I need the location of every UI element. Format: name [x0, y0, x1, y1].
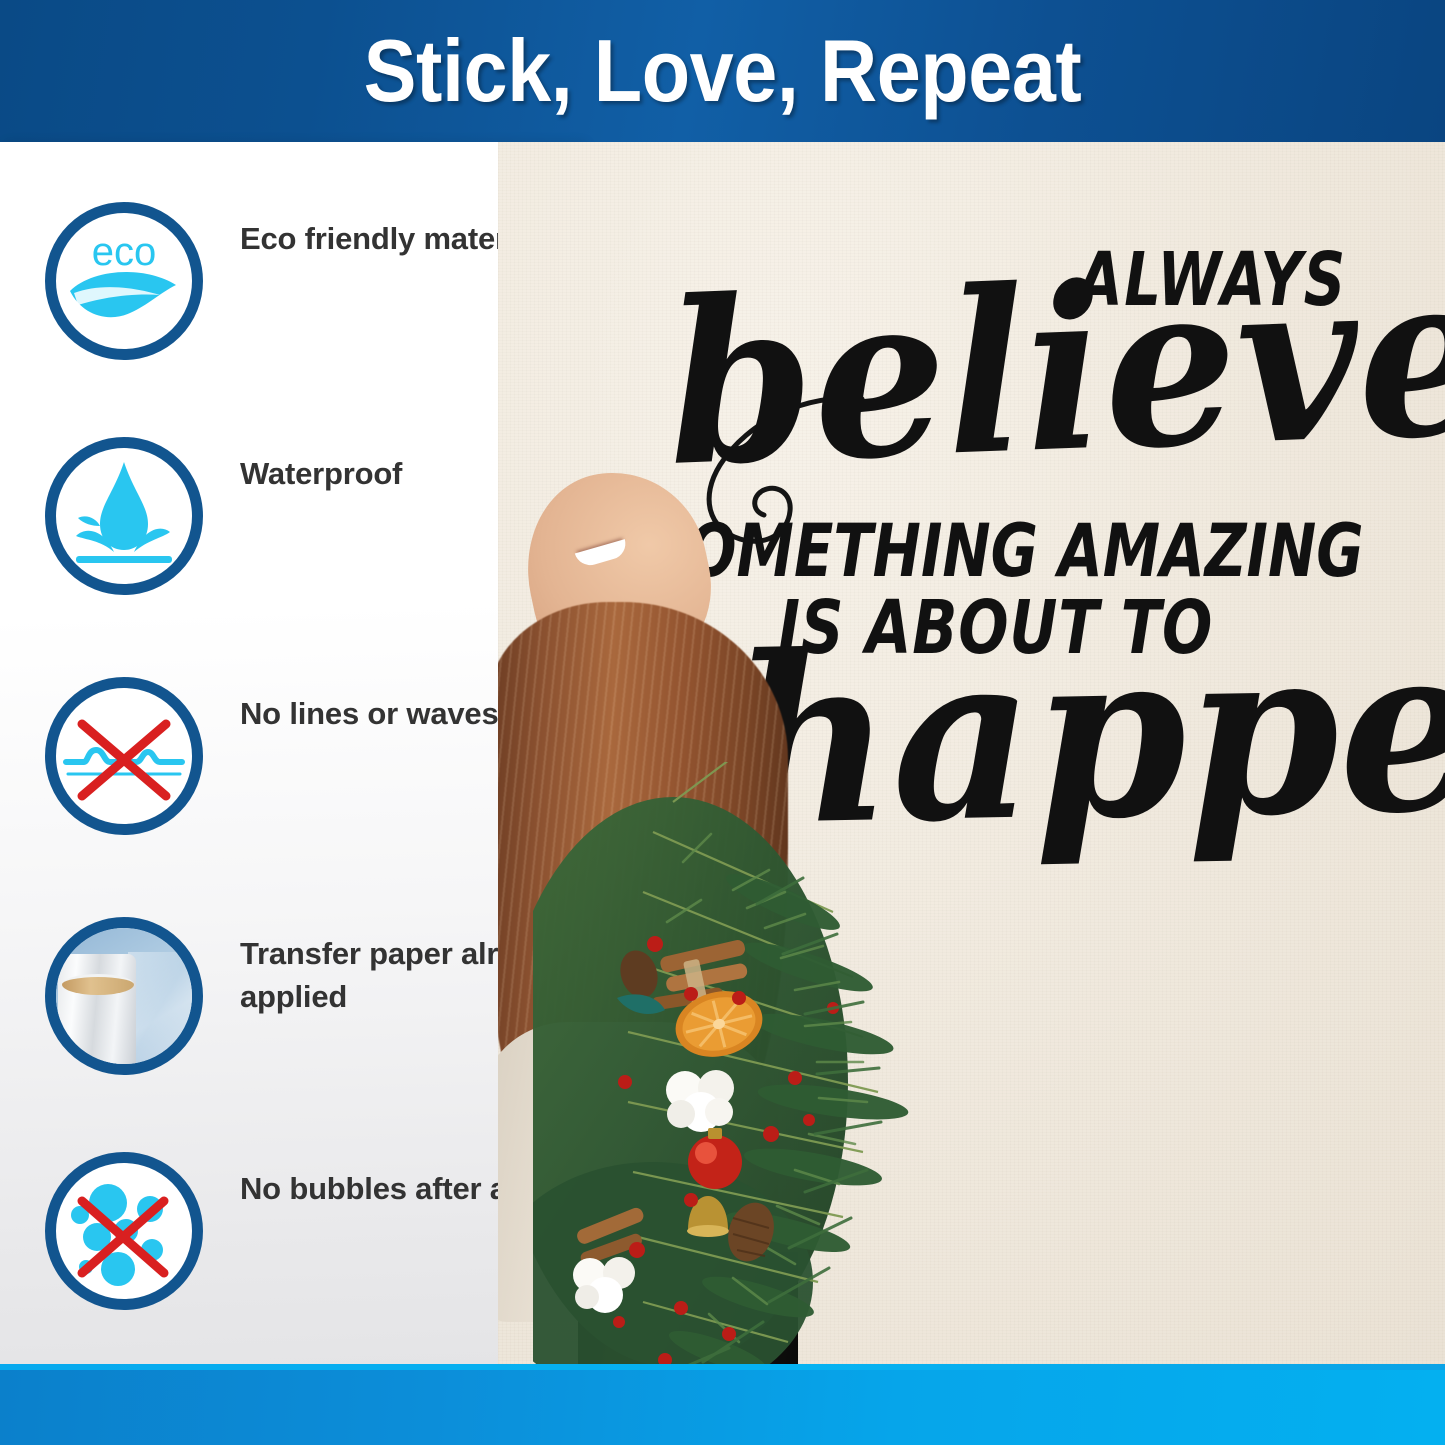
header-banner: Stick, Love, Repeat [0, 0, 1445, 142]
svg-text:eco: eco [92, 230, 157, 274]
roll-core [62, 974, 134, 995]
eco-leaf-icon: eco [45, 202, 203, 360]
feature-item-waterproof: Waterproof [45, 437, 575, 595]
feature-item-no-bubbles: No bubbles after apply [45, 1152, 575, 1310]
no-bubbles-icon [45, 1152, 203, 1310]
footer-banner [0, 1370, 1445, 1445]
product-infographic: Stick, Love, Repeat eco Eco friendly mat… [0, 0, 1445, 1445]
feature-item-transfer-paper: Transfer paper already applied [45, 917, 575, 1075]
feature-item-eco-friendly: eco Eco friendly material [45, 202, 575, 360]
transfer-paper-photo [56, 928, 192, 1064]
film-sheet [128, 952, 203, 1075]
product-photo: ALWAYS believe SOMETHING AMAZING IS ABOU… [498, 142, 1445, 1370]
film-roll [58, 954, 136, 1072]
page-title: Stick, Love, Repeat [72, 20, 1373, 122]
feature-list: eco Eco friendly material [0, 142, 583, 1370]
christmas-wreath [533, 762, 953, 1370]
no-waves-icon [45, 677, 203, 835]
feature-panel: eco Eco friendly material [0, 142, 583, 1370]
transfer-paper-roll-icon [45, 917, 203, 1075]
feature-item-no-lines-or-waves: No lines or waves [45, 677, 575, 835]
water-drop-icon [45, 437, 203, 595]
